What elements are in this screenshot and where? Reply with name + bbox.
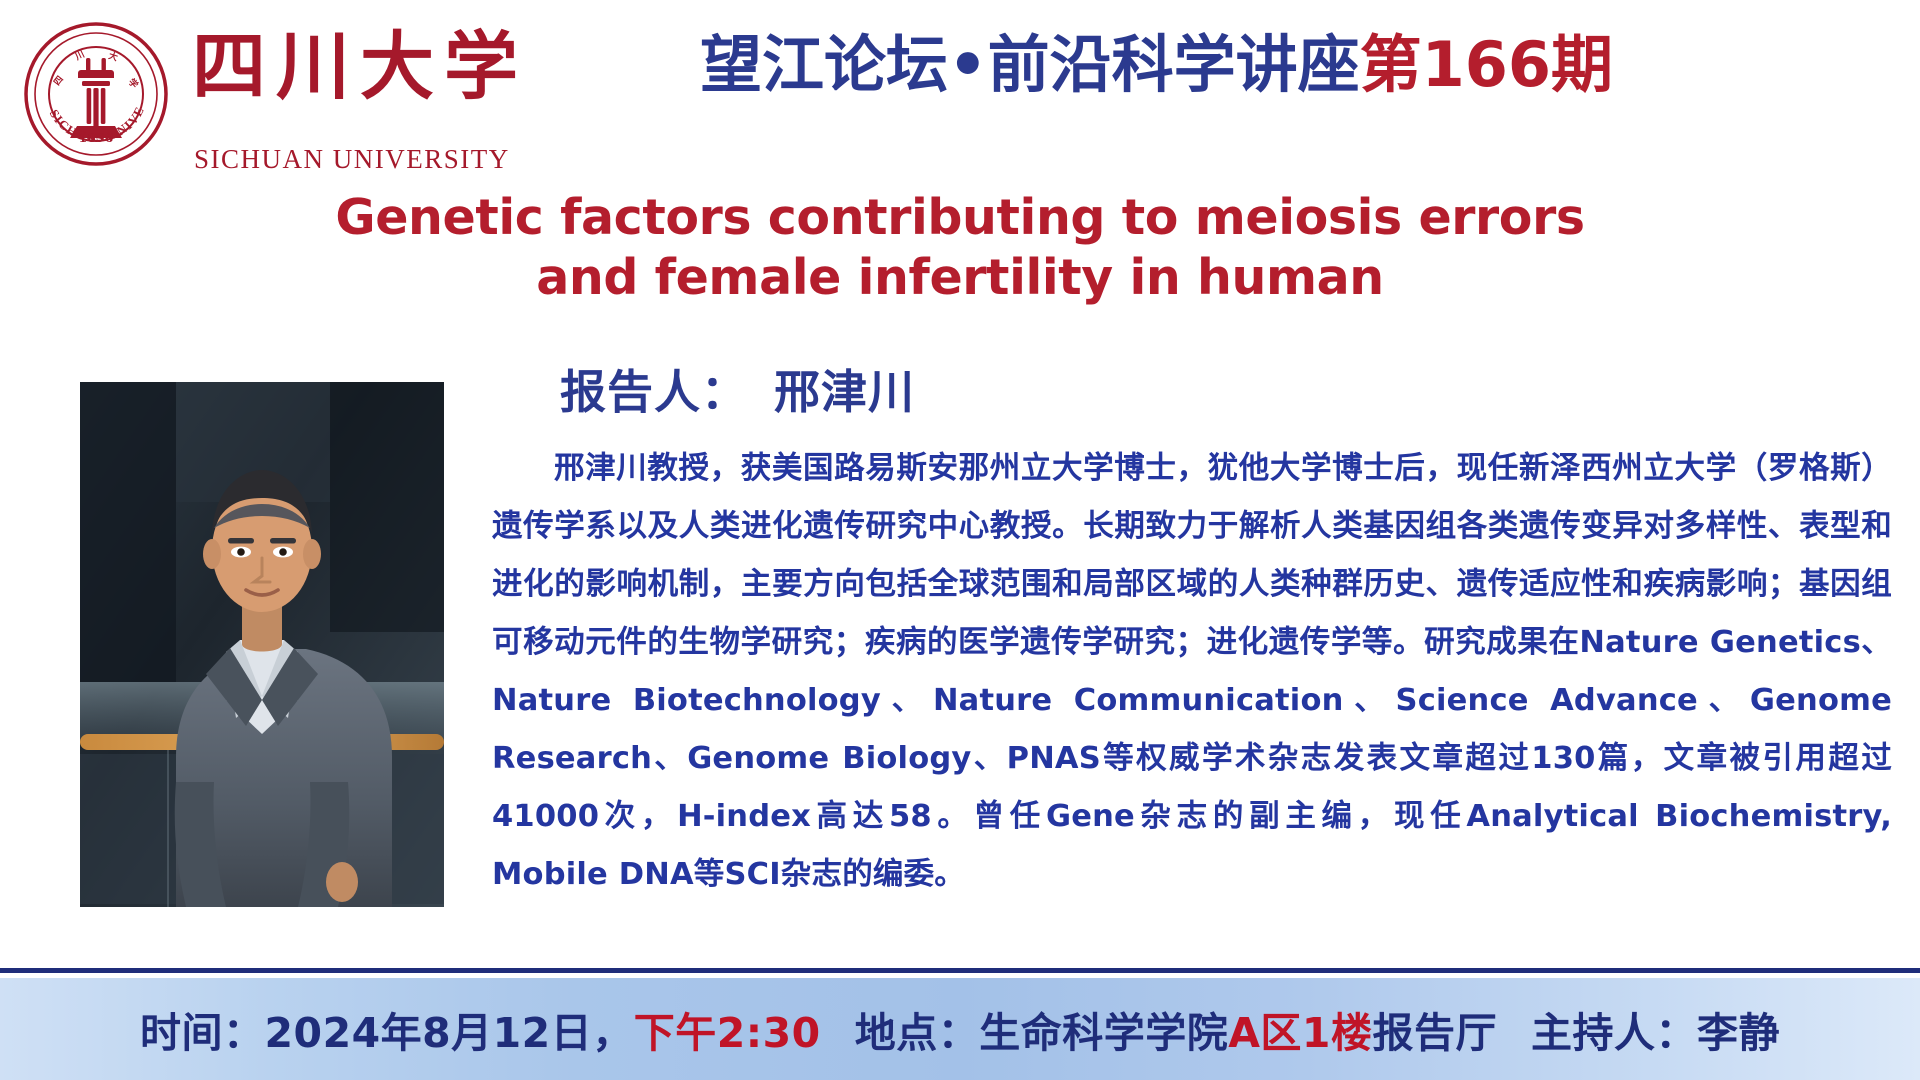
speaker-label: 报告人： (560, 365, 748, 419)
poster-header: 四 川 大 学 1896 SICHUAN UNIVERSITY 四川大学 SIC… (0, 0, 1920, 178)
university-seal-icon: 四 川 大 学 1896 SICHUAN UNIVERSITY (22, 20, 170, 168)
speaker-portrait-image (80, 382, 444, 907)
svg-text:川: 川 (73, 49, 87, 63)
place-highlight: A区1楼 (1228, 1009, 1372, 1057)
footer-divider (0, 968, 1920, 973)
series-title: 望江论坛•前沿科学讲座第166期 (700, 34, 1613, 96)
speaker-line: 报告人：邢津川 (560, 356, 915, 422)
time-clock: 下午2:30 (634, 1009, 821, 1057)
series-title-main: 望江论坛•前沿科学讲座 (700, 28, 1360, 101)
host-label: 主持人： (1531, 1009, 1697, 1057)
lecture-title: Genetic factors contributing to meiosis … (0, 188, 1920, 308)
university-name-en: SICHUAN UNIVERSITY (194, 144, 510, 175)
series-title-issue: 第166期 (1360, 28, 1613, 101)
lecture-title-line2: and female infertility in human (0, 248, 1920, 308)
place-part1: 生命科学学院 (979, 1009, 1228, 1057)
lecture-poster: 四 川 大 学 1896 SICHUAN UNIVERSITY 四川大学 SIC… (0, 0, 1920, 1080)
university-logo-block: 四 川 大 学 1896 SICHUAN UNIVERSITY 四川大学 SIC… (22, 14, 582, 174)
footer-details: 时间：2024年8月12日，下午2:30地点：生命科学学院A区1楼报告厅主持人：… (0, 999, 1920, 1059)
place-label: 地点： (855, 1009, 980, 1057)
svg-text:学: 学 (126, 76, 141, 91)
host-name: 李静 (1697, 1009, 1780, 1057)
lecture-title-line1: Genetic factors contributing to meiosis … (335, 189, 1584, 246)
speaker-bio: 邢津川教授，获美国路易斯安那州立大学博士，犹他大学博士后，现任新泽西州立大学（罗… (492, 440, 1892, 904)
place-part2: 报告厅 (1372, 1009, 1497, 1057)
speaker-photo (80, 382, 444, 907)
svg-text:四: 四 (52, 74, 66, 88)
speaker-name: 邢津川 (774, 365, 915, 419)
time-date: 2024年8月12日， (265, 1009, 634, 1057)
time-label: 时间： (140, 1009, 265, 1057)
poster-footer: 时间：2024年8月12日，下午2:30地点：生命科学学院A区1楼报告厅主持人：… (0, 978, 1920, 1080)
university-name-cn: 四川大学 (192, 30, 528, 104)
